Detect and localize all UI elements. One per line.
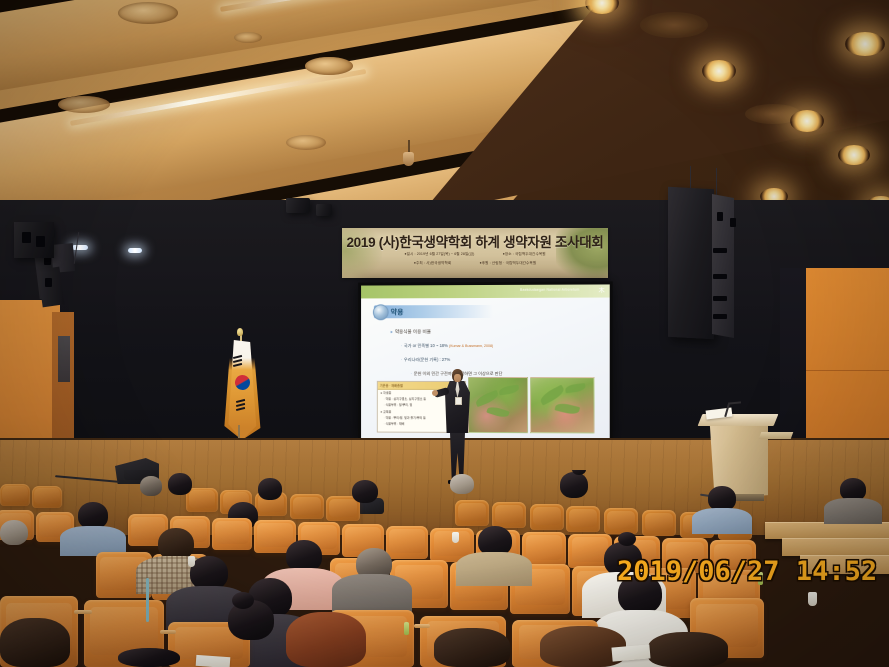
handout-paper: [196, 655, 231, 667]
leaf-shape-icon: [474, 390, 500, 407]
speaker-port: [713, 274, 727, 279]
slide-plant-photo-2: [530, 377, 594, 433]
stage-light-fixture: [316, 204, 332, 216]
stage-step: [782, 538, 889, 556]
downlight-icon: [790, 110, 824, 132]
downlight-icon: [702, 60, 736, 82]
wall-spot-light-icon: [72, 245, 88, 250]
seat[interactable]: [642, 510, 676, 536]
wall-spot-light-icon: [128, 248, 142, 253]
slide-citation: (Kumar & Bussmann, 2008): [449, 344, 493, 348]
paper-cup: [188, 556, 195, 567]
downlight-icon: [118, 2, 178, 24]
slide-title-bullet-icon: [373, 304, 389, 320]
slide-bullet-3: ·우리나라(문헌 기록) : 27%: [401, 357, 451, 363]
auditorium-conference-photo: 2019 (사)한국생약학회 하계 생약자원 조사대회 ●일시 : 2019년 …: [0, 0, 889, 667]
seat[interactable]: [455, 500, 489, 526]
audience-head: [0, 618, 70, 667]
pendant-light-icon: [403, 152, 414, 166]
banner-sponsor: ●후원 : 산림청 · 국립백두대간수목원: [480, 261, 537, 265]
audience-shoulders: [692, 508, 752, 534]
audience-head: [450, 474, 474, 494]
downlight-icon: [286, 135, 326, 150]
audience-head: [434, 628, 510, 667]
slide-table-row: · 약용 : 삼지구엽초, 삼지구엽초 등: [384, 397, 426, 401]
camera-timestamp: 2019/06/27 14:52: [617, 556, 877, 587]
event-banner: 2019 (사)한국생약학회 하계 생약자원 조사대회 ●일시 : 2019년 …: [342, 228, 608, 278]
slide-bullet-2: ·국가 or 민족별 10 ~ 18% (Kumar & Bussmann, 2…: [401, 343, 494, 349]
audience-head: [168, 473, 192, 495]
seat[interactable]: [604, 508, 638, 534]
slide-table-row: · 약용 : 뿌리/잎, 잎과 줄기/뿌리 등: [384, 416, 426, 420]
seat-armrest: [160, 630, 176, 634]
audience-head: [78, 502, 108, 529]
seat[interactable]: [566, 506, 600, 532]
speaker-port: [45, 278, 52, 287]
speaker-port: [713, 296, 727, 301]
downlight-icon: [234, 32, 262, 43]
speaker-icon: [14, 222, 54, 258]
leaf-shape-icon: [538, 385, 566, 406]
banner-place: ●장소 : 국립백두대간수목원: [503, 252, 546, 256]
audience-head: [118, 648, 180, 667]
slide-plant-photo-1: [468, 377, 528, 433]
arboretum-logo-icon: 木: [599, 285, 606, 294]
presenter-face: [454, 374, 461, 382]
seat[interactable]: [492, 502, 526, 528]
seat[interactable]: [0, 484, 30, 506]
presenter-name-badge: [455, 397, 462, 405]
audience-hair-bun: [232, 592, 254, 609]
speaker-port: [36, 236, 45, 247]
audience-head: [352, 480, 378, 503]
seat[interactable]: [290, 494, 324, 519]
side-wall-seam: [806, 370, 889, 371]
seat[interactable]: [530, 504, 564, 530]
audience-head: [140, 476, 162, 496]
audience-head: [286, 612, 366, 667]
downlight-icon: [640, 12, 708, 38]
downlight-icon: [845, 32, 885, 56]
banner-subline-2: ●주최 : 사)한국생약학회 ●후원 : 산림청 · 국립백두대간수목원: [342, 261, 608, 266]
podium-side-shelf: [759, 432, 794, 439]
drink-bottle: [404, 622, 409, 635]
audience-head: [190, 556, 228, 590]
leaf-shape-icon: [499, 385, 520, 396]
downlight-icon: [305, 57, 353, 75]
banner-host: ●주최 : 사)한국생약학회: [414, 261, 452, 265]
speaker-suspension-wire: [716, 168, 717, 198]
projection-screen: Baekdudaegan National Arboretum 木 약용 ▸약용…: [358, 281, 613, 442]
speaker-port: [22, 232, 31, 243]
walking-cane: [146, 578, 149, 622]
paper-cup: [808, 592, 817, 606]
audience-shoulders: [824, 498, 882, 524]
slide-table-row: · 식용부위 : 재배: [384, 422, 405, 426]
seat[interactable]: [32, 486, 62, 508]
downlight-icon: [838, 145, 870, 165]
audience-shoulders: [456, 552, 532, 586]
banner-date: ●일시 : 2019년 6월 27일(목) ~ 6월 28일(금): [404, 252, 474, 256]
slide-table-row: ▸ 교육용: [381, 410, 391, 414]
seat[interactable]: [186, 488, 218, 512]
slide-table-row: · 식용부위 : 잎/뿌리, 잎: [384, 403, 413, 407]
speaker-port: [730, 218, 736, 227]
speaker-port: [717, 212, 723, 221]
presentation-slide: Baekdudaegan National Arboretum 木 약용 ▸약용…: [361, 284, 610, 439]
audience-head: [560, 472, 588, 498]
flag-finial-icon: [237, 328, 243, 336]
audience-head: [648, 632, 728, 667]
slide-title: 약용: [391, 307, 404, 317]
speaker-icon: [668, 187, 714, 339]
slide-bullet-1: ▸약용식물 이용 비율: [391, 329, 431, 335]
audience-shoulders: [332, 574, 412, 614]
seat-armrest: [74, 610, 92, 614]
seat-armrest: [414, 624, 430, 628]
stage-step: [765, 522, 889, 539]
paper-cup: [452, 532, 459, 543]
audience-hair-bun: [618, 532, 636, 546]
slide-table-row: ▸ 자생종: [381, 391, 391, 395]
leaf-shape-icon: [565, 383, 586, 393]
banner-title: 2019 (사)한국생약학회 하계 생약자원 조사대회: [342, 231, 608, 251]
speaker-port: [713, 314, 727, 319]
leaf-shape-icon: [554, 401, 580, 416]
stage-light-fixture: [286, 198, 310, 213]
leaf-shape-icon: [486, 405, 509, 419]
slide-header-text: Baekdudaegan National Arboretum: [520, 288, 579, 292]
seat[interactable]: [386, 526, 428, 559]
presenter-hand: [432, 390, 438, 396]
audience-head: [258, 478, 282, 500]
audience-head: [0, 520, 28, 545]
seat[interactable]: [212, 518, 252, 550]
speaker-port: [713, 248, 727, 253]
banner-subline-1: ●일시 : 2019년 6월 27일(목) ~ 6월 28일(금) ●장소 : …: [342, 252, 608, 257]
stage-door-panel: [58, 336, 70, 382]
downlight-icon: [58, 96, 110, 113]
